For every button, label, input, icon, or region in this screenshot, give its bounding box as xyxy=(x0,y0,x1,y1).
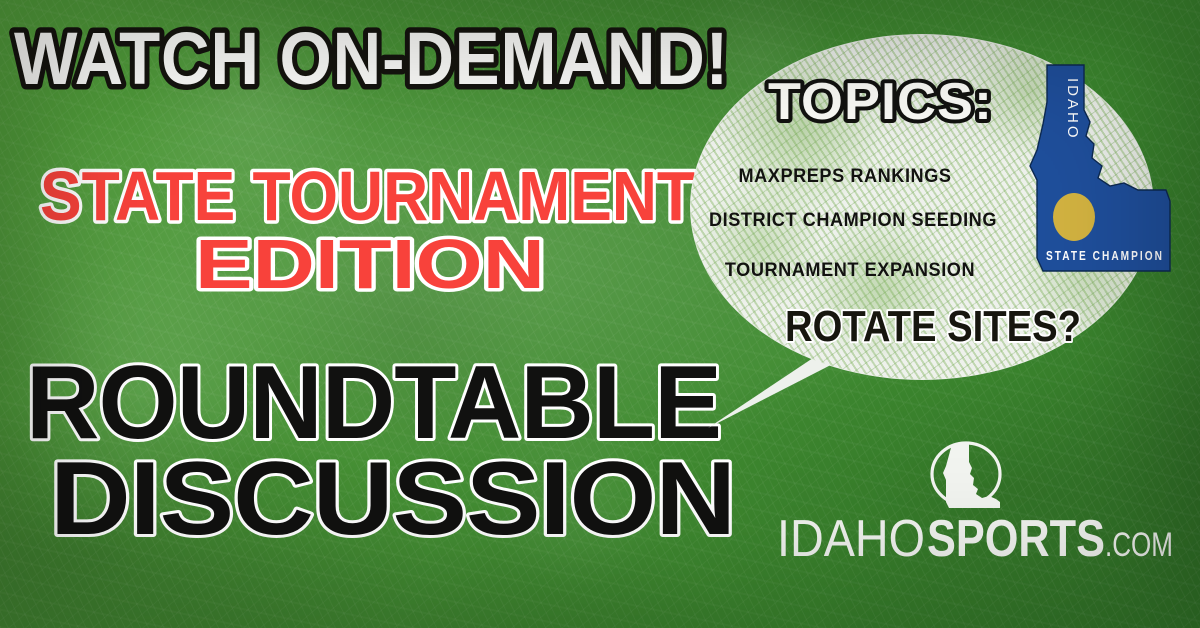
wordmark-tld: .COM xyxy=(1105,526,1173,564)
rotate-sites-topic: ROTATE SITES? xyxy=(785,298,1085,352)
topics-header: TOPICS: xyxy=(768,72,998,132)
edition-line: EDITION xyxy=(40,226,700,300)
wordmark-idaho: IDAHO xyxy=(777,510,925,568)
topic-list-item: MAXPREPS RANKINGS xyxy=(701,165,989,188)
idaho-vertical-label: IDAHO xyxy=(1064,78,1081,141)
topics-header-text: TOPICS: xyxy=(768,73,993,131)
idaho-state-champion-graphic: IDAHO STATE CHAMPION xyxy=(1006,62,1176,278)
rotate-sites-text: ROTATE SITES? xyxy=(785,302,1081,351)
state-champion-caption: STATE CHAMPION xyxy=(1046,248,1164,263)
topic-list-item: DISTRICT CHAMPION SEEDING xyxy=(701,209,1004,232)
idahosports-logo[interactable]: IDAHO SPORTS .COM xyxy=(775,440,1175,570)
idahosports-wordmark: IDAHO SPORTS .COM xyxy=(775,510,1175,570)
watch-on-demand-headline: WATCH ON-DEMAND! xyxy=(14,18,734,102)
discussion-text: DISCUSSION xyxy=(50,441,735,557)
idaho-state-circle-icon xyxy=(925,440,1007,512)
idaho-state-silhouette xyxy=(1030,65,1170,271)
discussion-line: DISCUSSION xyxy=(50,448,740,556)
watch-on-demand-text: WATCH ON-DEMAND! xyxy=(14,17,729,100)
topic-list-item: TOURNAMENT EXPANSION xyxy=(701,259,999,282)
wordmark-sports: SPORTS xyxy=(927,510,1105,568)
state-tournament-text: STATE TOURNAMENT xyxy=(40,157,695,235)
state-champion-location-dot xyxy=(1053,193,1095,241)
edition-text: EDITION xyxy=(195,225,545,303)
